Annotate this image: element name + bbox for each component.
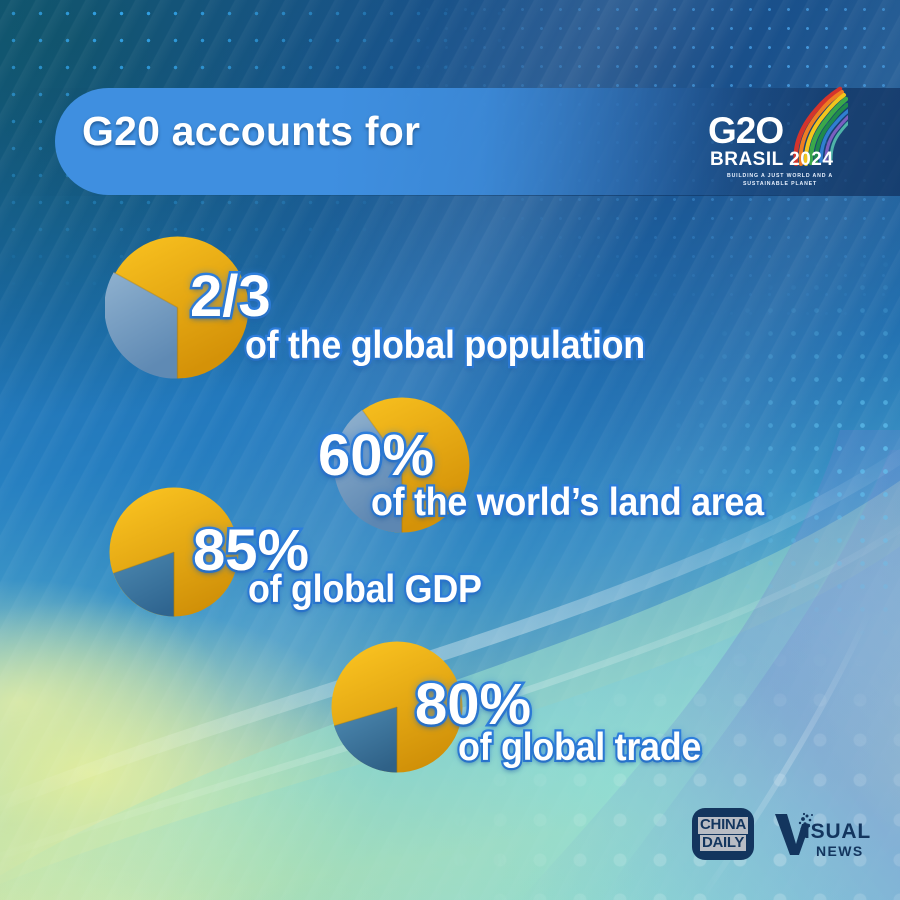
china-daily-logo: CHINA DAILY	[692, 808, 754, 860]
stat-label-gdp: of global GDP	[248, 570, 482, 609]
stat-label-trade: of global trade	[458, 728, 701, 767]
g20-brasil-logo: G2O BRASIL 2024 BUILDING A JUST WORLD AN…	[704, 86, 854, 192]
visual-news-word: ISUAL	[804, 821, 871, 842]
visual-news-sub: NEWS	[816, 844, 864, 858]
g20-wordmark: G2O	[708, 112, 783, 149]
infographic-canvas: G20 accounts for G2O BRASIL 2024 BUILDIN…	[0, 0, 900, 900]
stat-label-population: of the global population	[245, 326, 645, 365]
stat-label-land-area: of the world’s land area	[371, 483, 764, 522]
visual-news-logo: ISUAL NEWS	[774, 806, 874, 862]
footer-logos: CHINA DAILY ISUAL NEWS	[692, 806, 872, 862]
g20-country-year: BRASIL 2024	[710, 150, 833, 169]
page-title: G20 accounts for	[82, 108, 420, 155]
g20-tagline: BUILDING A JUST WORLD AND A SUSTAINABLE …	[722, 172, 838, 188]
china-daily-line1: CHINA	[698, 817, 748, 834]
china-daily-line2: DAILY	[700, 835, 746, 852]
stat-value-land-area: 60%	[318, 427, 434, 485]
stat-value-population: 2/3	[190, 268, 271, 326]
